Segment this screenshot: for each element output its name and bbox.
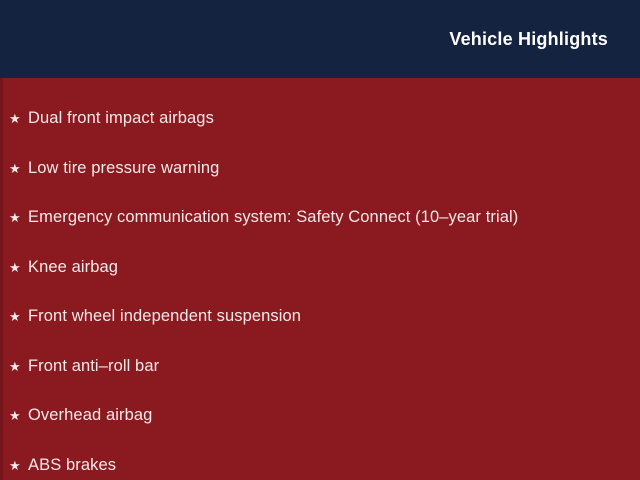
highlight-label: Front wheel independent suspension [28, 292, 301, 342]
highlight-label: Overhead airbag [28, 391, 152, 441]
list-item: ★ Low tire pressure warning [9, 144, 630, 194]
list-item: ★ Emergency communication system: Safety… [9, 193, 630, 243]
list-item: ★ Knee airbag [9, 243, 630, 293]
star-bullet-icon: ★ [9, 292, 28, 342]
list-item: ★ Front anti–roll bar [9, 342, 630, 392]
highlight-label: Front anti–roll bar [28, 342, 159, 392]
star-bullet-icon: ★ [9, 144, 28, 194]
highlights-content: ★ Dual front impact airbags ★ Low tire p… [0, 78, 640, 480]
star-bullet-icon: ★ [9, 243, 28, 293]
star-bullet-icon: ★ [9, 441, 28, 480]
list-item: ★ Front wheel independent suspension [9, 292, 630, 342]
list-item: ★ ABS brakes [9, 441, 630, 480]
list-item: ★ Dual front impact airbags [9, 94, 630, 144]
star-bullet-icon: ★ [9, 94, 28, 144]
star-bullet-icon: ★ [9, 391, 28, 441]
highlight-label: Low tire pressure warning [28, 144, 219, 194]
vehicle-highlights-slide: Vehicle Highlights ★ Dual front impact a… [0, 0, 640, 480]
highlight-label: Emergency communication system: Safety C… [28, 193, 518, 243]
highlight-label: Dual front impact airbags [28, 94, 214, 144]
list-item: ★ Overhead airbag [9, 391, 630, 441]
header-bar: Vehicle Highlights [0, 0, 640, 78]
star-bullet-icon: ★ [9, 342, 28, 392]
star-bullet-icon: ★ [9, 193, 28, 243]
highlights-list: ★ Dual front impact airbags ★ Low tire p… [9, 94, 630, 480]
page-title: Vehicle Highlights [449, 30, 608, 48]
highlight-label: ABS brakes [28, 441, 116, 480]
highlight-label: Knee airbag [28, 243, 118, 293]
